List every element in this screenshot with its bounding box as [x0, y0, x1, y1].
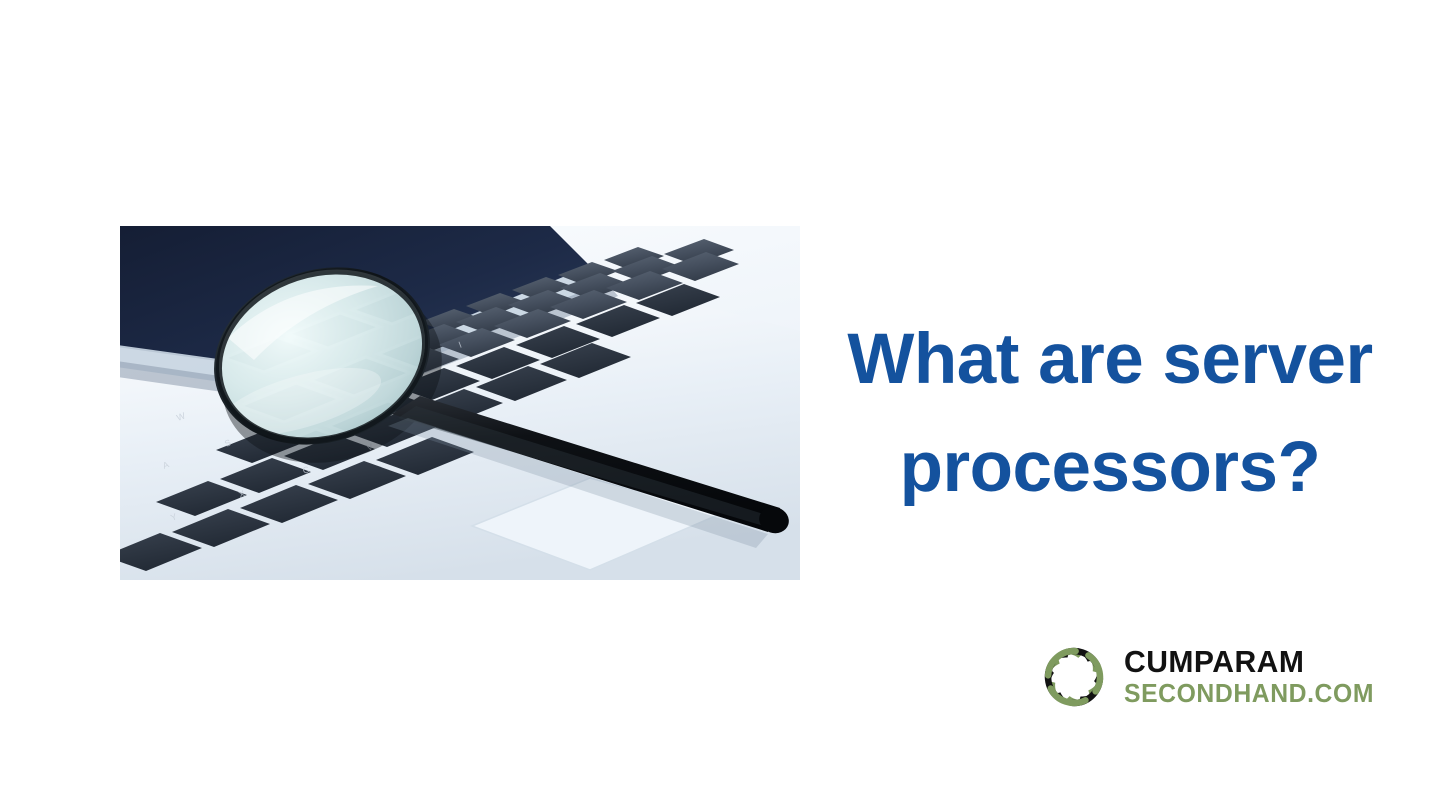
swirl-icon-svg — [1038, 641, 1110, 713]
slide-canvas: A S D F G W E R I Y X C V — [0, 0, 1440, 810]
brand-name-secondary: SECONDHAND.COM — [1124, 682, 1374, 708]
brand-name-primary: CUMPARAM — [1124, 646, 1374, 677]
hero-photo: A S D F G W E R I Y X C V — [120, 226, 800, 580]
brand-logo[interactable]: CUMPARAM SECONDHAND.COM — [1038, 641, 1382, 713]
page-title-line-1: What are server — [820, 306, 1400, 414]
page-title-line-2: processors? — [820, 414, 1400, 522]
brand-logo-text: CUMPARAM SECONDHAND.COM — [1124, 646, 1382, 708]
cumparam-swirl-icon — [1038, 641, 1110, 713]
page-title: What are server processors? — [820, 306, 1400, 522]
keyboard-magnifier-illustration: A S D F G W E R I Y X C V — [120, 226, 800, 580]
